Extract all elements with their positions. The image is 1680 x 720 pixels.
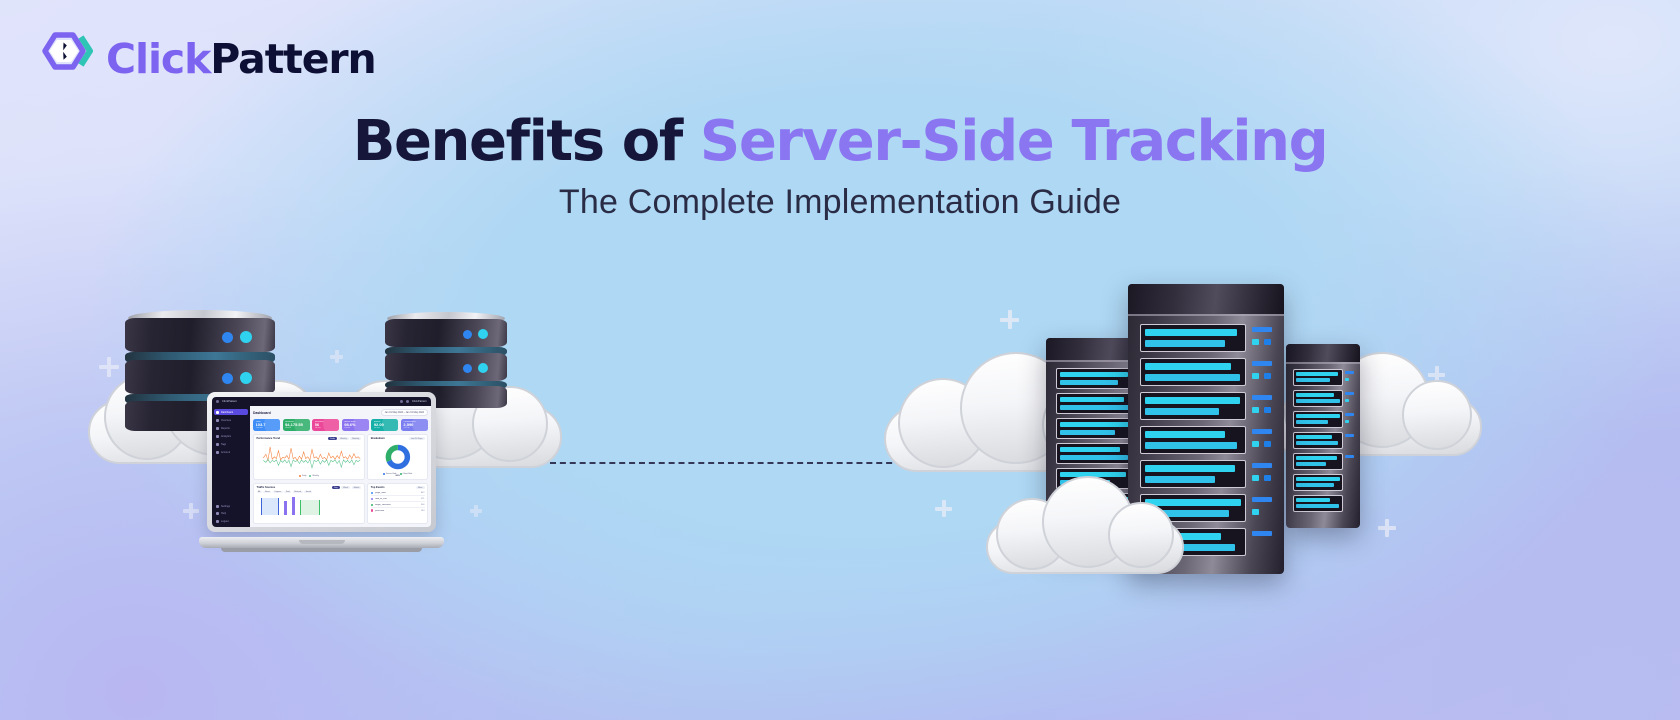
sidebar-item-reports[interactable]: Reports <box>214 425 248 431</box>
filter-chip[interactable]: Referral <box>293 491 303 494</box>
breakdown-card: Breakdown Last 30 Days Server-Side Clien <box>367 434 428 481</box>
document-icon <box>216 427 219 430</box>
kpi-label: Sessions <box>315 421 337 423</box>
bar-chart <box>257 495 362 515</box>
filter-chip[interactable]: Paid <box>284 491 291 494</box>
window-dot <box>216 400 219 403</box>
event-name: page_view <box>375 492 419 494</box>
brand-wordmark: ClickPattern <box>106 39 376 80</box>
tag-icon <box>216 443 219 446</box>
cloud-icon <box>986 476 1180 570</box>
kpi-label: Visits <box>256 421 278 423</box>
card-title: Traffic Sources <box>257 486 276 489</box>
traffic-sources-card: Traffic Sources Day Week Month All <box>253 483 365 524</box>
kpi-delta: +5.5% <box>374 427 396 429</box>
card-actions: Last 30 Days <box>409 437 425 440</box>
event-value: 184 <box>421 510 425 512</box>
card-header: Breakdown Last 30 Days <box>371 437 425 440</box>
card-actions: More <box>416 486 425 489</box>
bar <box>261 498 279 515</box>
card-header: Performance Trend Daily Weekly Monthly <box>257 437 362 440</box>
card-title: Performance Trend <box>257 437 281 440</box>
dashboard-screen: ClickPattern ClickPattern Dashboard Over… <box>212 397 431 527</box>
sidebar-item-label: Logout <box>221 520 229 523</box>
kpi-label: Conversions <box>403 421 425 423</box>
segment-month[interactable]: Month <box>352 486 362 489</box>
title-accent-part: Server-Side Tracking <box>700 109 1327 174</box>
kpi-card[interactable]: Sessions 56 +3.2% <box>312 419 339 432</box>
sidebar-item-logout[interactable]: Logout <box>214 518 248 524</box>
filter-chip[interactable]: All <box>257 491 262 494</box>
dashboard-header: Dashboard Jan 01 May 2024 – Jan 31 May 2… <box>253 409 428 416</box>
status-dot <box>371 504 374 507</box>
database-stack-icon <box>385 312 507 404</box>
segment-monthly[interactable]: Monthly <box>350 437 361 440</box>
hexagon-cursor-logo-icon <box>33 29 93 89</box>
sidebar-item-label: Settings <box>221 505 230 508</box>
sidebar-item-tags[interactable]: Tags <box>214 441 248 447</box>
dashboard-page-title: Dashboard <box>253 411 271 415</box>
filter-chip-row: All Direct Organic Paid Referral Social <box>257 491 362 494</box>
kpi-delta: +8.1% <box>285 427 307 429</box>
kpi-label: Match Rate <box>344 421 366 423</box>
laptop-foot <box>221 548 422 552</box>
chart-icon <box>216 419 219 422</box>
event-value: 511 <box>421 498 425 500</box>
brand-name-click: Click <box>106 35 210 83</box>
avatar[interactable] <box>406 400 409 403</box>
kpi-label: Revenue <box>285 421 307 423</box>
segment-daily[interactable]: Daily <box>328 437 336 440</box>
kpi-delta: +0.9% <box>344 427 366 429</box>
sidebar-footer: Settings Help Logout <box>214 503 248 524</box>
laptop-icon: ClickPattern ClickPattern Dashboard Over… <box>199 392 444 552</box>
kpi-card[interactable]: Revenue $4,175.55 +8.1% <box>283 419 310 432</box>
segmented-control: Daily Weekly Monthly <box>328 437 361 440</box>
card-header: Top Events More <box>371 486 425 489</box>
sidebar-item-analytics[interactable]: Analytics <box>214 433 248 439</box>
plus-sparkle-icon <box>1000 310 1019 329</box>
kpi-card-row: Visits 103.7 +12.4% Revenue $4,175.55 +8… <box>253 419 428 432</box>
segment-day[interactable]: Day <box>332 486 340 489</box>
plus-sparkle-icon <box>935 500 952 517</box>
sidebar-item-dashboard[interactable]: Dashboard <box>214 409 248 415</box>
donut-range[interactable]: Last 30 Days <box>409 437 425 440</box>
plus-sparkle-icon <box>183 503 199 519</box>
sidebar-item-label: Dashboard <box>221 411 233 414</box>
gear-icon <box>216 505 219 508</box>
line-chart <box>257 442 362 474</box>
card-header: Traffic Sources Day Week Month <box>257 486 362 489</box>
dashboard-content: Dashboard Jan 01 May 2024 – Jan 31 May 2… <box>250 406 431 527</box>
page-subtitle: The Complete Implementation Guide <box>0 183 1680 222</box>
hero-banner: ClickPattern Benefits of Server-Side Tra… <box>0 0 1680 720</box>
titlebar-actions: ClickPattern <box>400 400 427 403</box>
segment-weekly[interactable]: Weekly <box>338 437 349 440</box>
sidebar-item-label: Reports <box>221 427 230 430</box>
dashboard-bottom-row: Traffic Sources Day Week Month All <box>253 483 428 524</box>
kpi-delta: +3.2% <box>315 427 337 429</box>
donut-center-value: 68% <box>371 475 425 477</box>
dashed-data-flow-line <box>550 462 902 464</box>
bar <box>284 501 287 515</box>
status-dot <box>371 492 374 495</box>
kpi-label: Events <box>374 421 396 423</box>
dashboard-window-title: ClickPattern <box>222 400 237 403</box>
donut-chart <box>371 442 425 472</box>
sidebar-item-account[interactable]: Account <box>214 449 248 455</box>
kpi-card[interactable]: Conversions 2,590 +2.7% <box>401 419 428 432</box>
user-icon <box>216 451 219 454</box>
plus-sparkle-icon <box>470 505 482 517</box>
event-value: 842 <box>421 492 425 494</box>
performance-trend-card: Performance Trend Daily Weekly Monthly <box>253 434 365 481</box>
dashboard-sidebar: Dashboard Overview Reports Analytics Tag… <box>212 406 250 527</box>
segmented-control: Day Week Month <box>332 486 361 489</box>
sidebar-item-help[interactable]: Help <box>214 511 248 517</box>
legend-item: Weekly <box>309 475 319 477</box>
dashboard-middle-row: Performance Trend Daily Weekly Monthly <box>253 434 428 481</box>
brand-name-pattern: Pattern <box>210 35 375 83</box>
event-name: purchase <box>375 510 419 512</box>
status-dot <box>371 498 374 501</box>
kpi-delta: +12.4% <box>256 427 278 429</box>
event-name: begin_checkout <box>375 504 419 506</box>
bar <box>300 500 320 515</box>
filter-chip[interactable]: Organic <box>273 491 283 494</box>
more-button[interactable]: More <box>416 486 425 489</box>
page-title: Benefits of Server-Side Tracking <box>0 112 1680 172</box>
status-dot <box>371 509 374 512</box>
laptop-trackpad-notch <box>299 540 345 544</box>
title-dark-part: Benefits of <box>353 109 682 174</box>
card-title: Breakdown <box>371 437 385 440</box>
kpi-card[interactable]: Match Rate 98.6% +0.9% <box>342 419 369 432</box>
dashboard-body: Dashboard Overview Reports Analytics Tag… <box>212 406 431 527</box>
titlebar-user: ClickPattern <box>412 400 427 403</box>
kpi-delta: +2.7% <box>403 427 425 429</box>
plus-sparkle-icon <box>1378 519 1396 537</box>
grid-icon <box>216 411 219 414</box>
sidebar-item-settings[interactable]: Settings <box>214 503 248 509</box>
event-name: add_to_cart <box>375 498 419 500</box>
bar <box>292 497 295 515</box>
logout-icon <box>216 520 219 523</box>
top-events-card: Top Events More page_view842 add_to_cart… <box>367 483 428 524</box>
bell-icon[interactable] <box>400 400 403 403</box>
dashboard-titlebar: ClickPattern ClickPattern <box>212 397 431 406</box>
sidebar-item-label: Help <box>221 512 226 515</box>
card-title: Top Events <box>371 486 385 489</box>
legend-item: Daily <box>299 475 306 477</box>
list-item[interactable]: purchase184 <box>371 508 425 513</box>
kpi-card[interactable]: Visits 103.7 +12.4% <box>253 419 280 432</box>
server-rack-icon <box>1286 344 1360 528</box>
brand-logo[interactable]: ClickPattern <box>33 29 376 89</box>
sidebar-item-overview[interactable]: Overview <box>214 417 248 423</box>
kpi-card[interactable]: Events 92.00 +5.5% <box>371 419 398 432</box>
filter-chip[interactable]: Direct <box>263 491 271 494</box>
segment-week[interactable]: Week <box>341 486 350 489</box>
event-value: 306 <box>421 504 425 506</box>
sidebar-item-label: Tags <box>221 443 226 446</box>
sidebar-item-label: Analytics <box>221 435 231 438</box>
date-range-picker[interactable]: Jan 01 May 2024 – Jan 31 May 2024 <box>381 409 428 416</box>
laptop-lid: ClickPattern ClickPattern Dashboard Over… <box>207 392 436 532</box>
help-icon <box>216 512 219 515</box>
sidebar-item-label: Overview <box>221 419 231 422</box>
chart-legend: Daily Weekly <box>257 475 362 477</box>
filter-chip[interactable]: Social <box>304 491 312 494</box>
pulse-icon <box>216 435 219 438</box>
sidebar-item-label: Account <box>221 451 230 454</box>
